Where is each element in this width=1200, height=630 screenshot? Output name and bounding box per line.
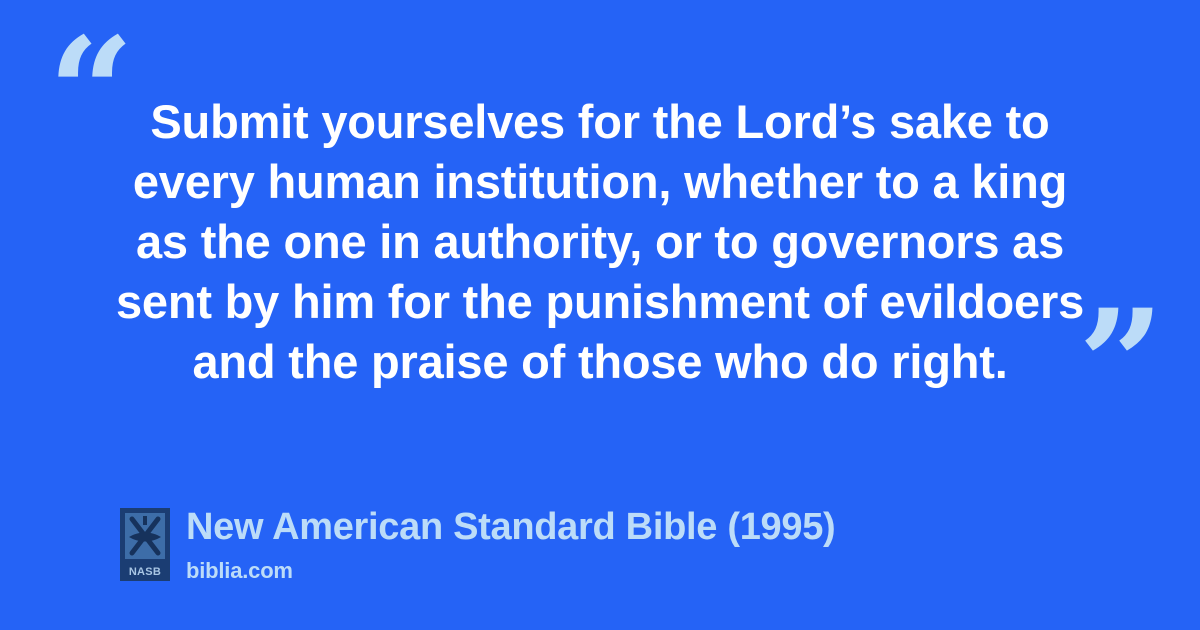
quote-line: Submit yourselves for the Lord’s sake to (100, 92, 1100, 152)
quote-line: as the one in authority, or to governors… (100, 212, 1100, 272)
quote-line: every human institution, whether to a ki… (100, 152, 1100, 212)
attribution-text: New American Standard Bible (1995) bibli… (186, 505, 835, 585)
quote-text-block: Submit yourselves for the Lord’s sake to… (100, 92, 1100, 392)
attribution: NASB New American Standard Bible (1995) … (120, 505, 835, 585)
nasb-logo-wordmark: NASB (129, 565, 161, 579)
bible-version-title: New American Standard Bible (1995) (186, 505, 835, 549)
nasb-logo-mark-icon (125, 513, 165, 559)
close-quote-icon: ” (1078, 290, 1162, 440)
quote-card: “ Submit yourselves for the Lord’s sake … (0, 0, 1200, 630)
nasb-logo: NASB (120, 508, 170, 581)
quote-line: sent by him for the punishment of evildo… (100, 272, 1100, 332)
source-url[interactable]: biblia.com (186, 557, 835, 585)
quote-line: and the praise of those who do right. (100, 332, 1100, 392)
